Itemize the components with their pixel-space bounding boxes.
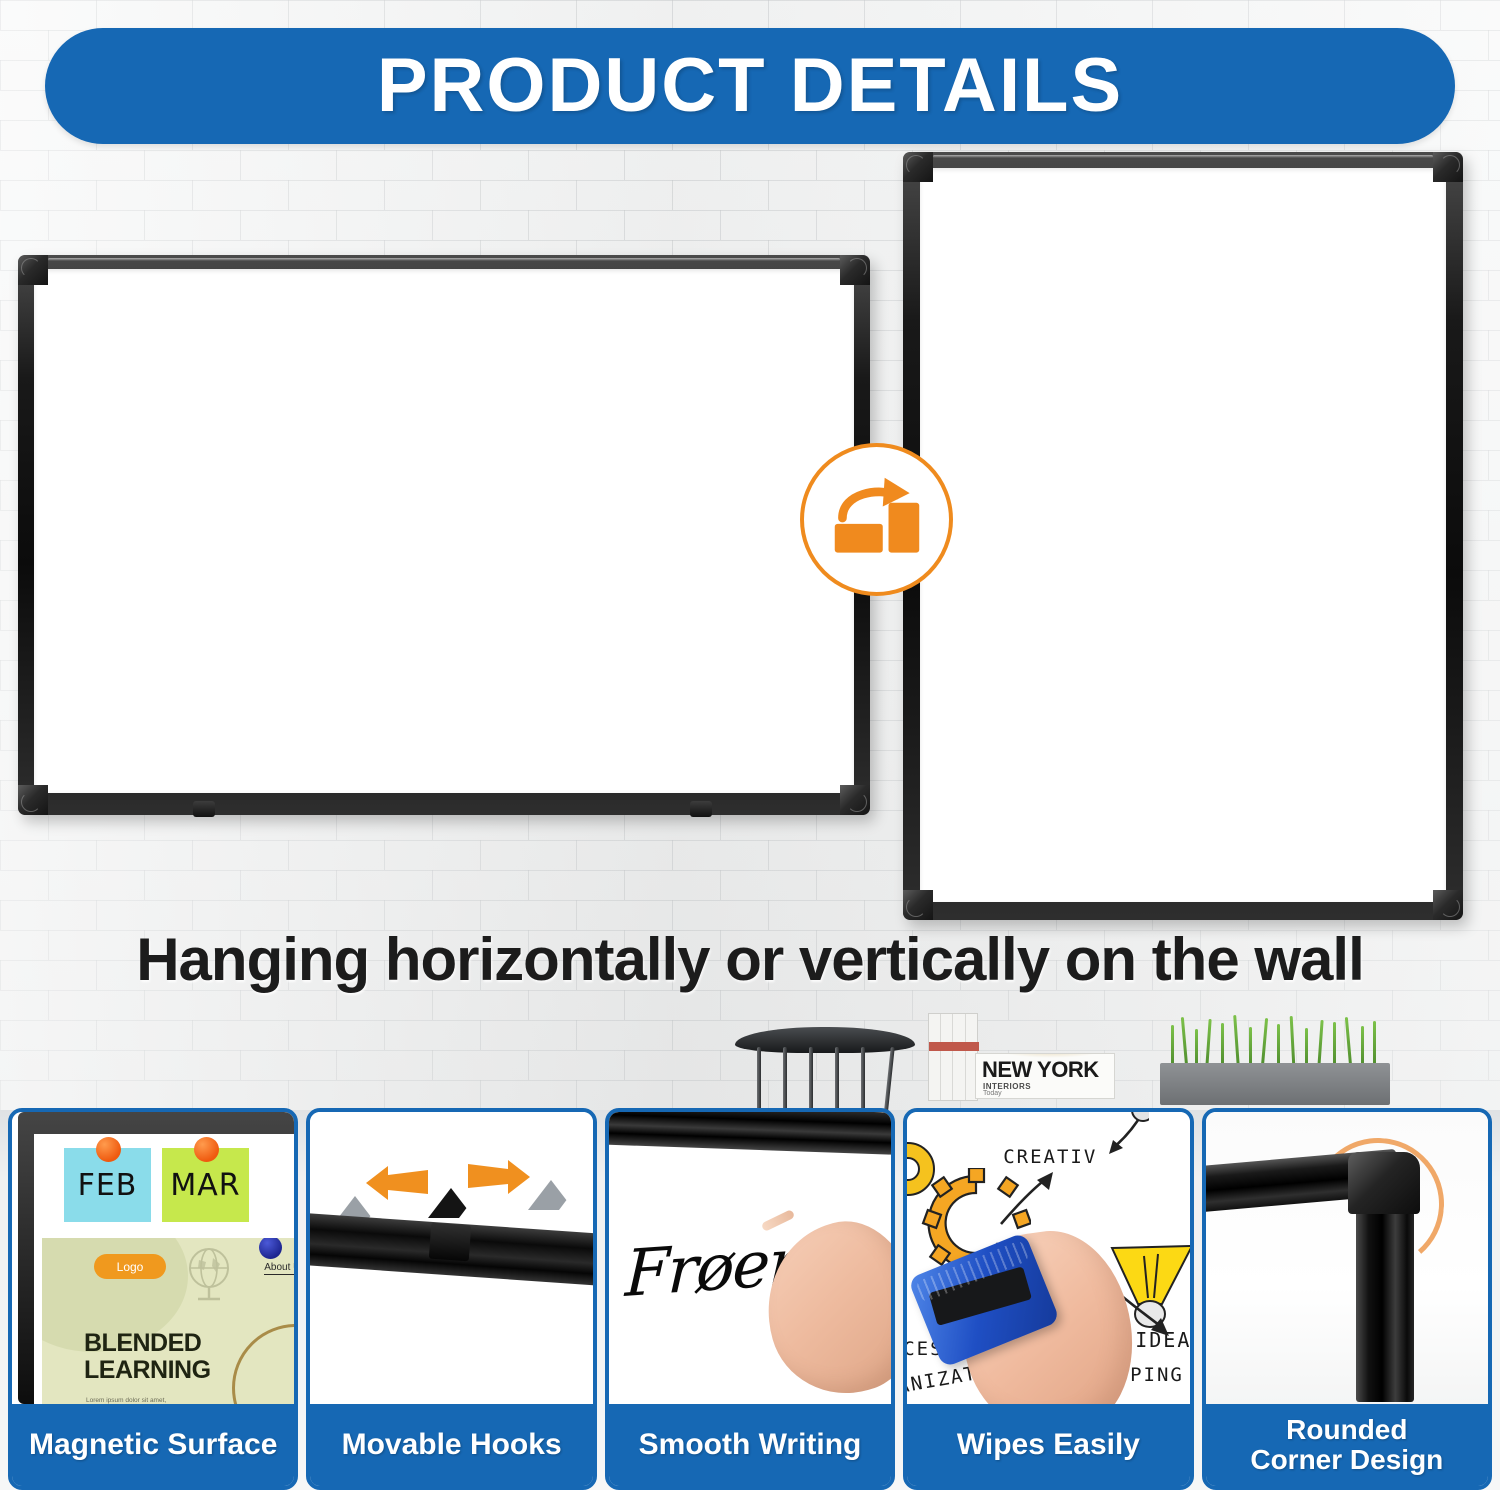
panel-label-wipes-easily: Wipes Easily <box>907 1404 1189 1486</box>
board-writing-surface <box>920 168 1446 902</box>
panel-label-smooth-writing: Smooth Writing <box>609 1404 891 1486</box>
board-writing-surface <box>34 269 854 793</box>
frame-highlight <box>48 258 840 261</box>
grass-blade <box>1361 1026 1364 1067</box>
panel-movable-hooks[interactable]: Movable Hooks <box>306 1108 596 1490</box>
feature-panel-row: FEB MAR Logo <box>0 1108 1500 1490</box>
grass-blade <box>1261 1018 1268 1067</box>
whiteboard-sketch: CREATIV IDEA LOPING CESS ANIZATI <box>907 1112 1189 1404</box>
rotate-orientation-glyph <box>829 472 925 568</box>
grass-blade <box>1317 1020 1323 1067</box>
hook-icon <box>528 1180 574 1210</box>
panel-smooth-writing[interactable]: Frøend Smooth Writing <box>605 1108 895 1490</box>
panel-label-line-2: Corner Design <box>1250 1444 1443 1475</box>
corner-piece-icon <box>1348 1152 1420 1214</box>
whiteboard-vertical <box>903 152 1463 920</box>
tray-clip <box>690 801 712 817</box>
corner-piece-icon <box>1433 152 1463 182</box>
whiteboard-rail <box>609 1112 891 1156</box>
grass-blade <box>1171 1025 1174 1067</box>
tray-clip <box>193 801 215 817</box>
hero-caption: Hanging horizontally or vertically on th… <box>0 925 1500 994</box>
arrow-right-icon <box>468 1158 530 1196</box>
grass-blade <box>1290 1016 1296 1067</box>
panel-rounded-corner-design[interactable]: Rounded Corner Design <box>1202 1108 1492 1490</box>
magnet-icon <box>259 1238 282 1259</box>
grass-blade <box>1373 1021 1376 1067</box>
grass-blade <box>1345 1017 1352 1067</box>
grass-blade <box>1221 1023 1224 1067</box>
board-writing-surface: FEB MAR Logo <box>34 1134 294 1404</box>
planter-box <box>1160 1063 1390 1105</box>
grass-blade <box>1305 1028 1308 1067</box>
corner-piece-icon <box>18 785 48 815</box>
poster-logo-badge: Logo <box>94 1254 166 1279</box>
globe-icon <box>186 1246 232 1306</box>
panel-label-rounded-corner-design: Rounded Corner Design <box>1206 1404 1488 1486</box>
new-york-book: NEW YORK INTERIORS Today <box>975 1053 1115 1099</box>
page-title: PRODUCT DETAILS <box>377 48 1123 124</box>
corner-piece-icon <box>1433 890 1463 920</box>
grass-blade <box>1333 1022 1336 1067</box>
corner-piece-icon <box>840 255 870 285</box>
panel-magnetic-surface[interactable]: FEB MAR Logo <box>8 1108 298 1490</box>
hook-base <box>429 1223 471 1262</box>
book-title: NEW YORK <box>982 1057 1099 1083</box>
panel-label-magnetic-surface: Magnetic Surface <box>12 1404 294 1486</box>
grass-blade <box>1233 1015 1240 1067</box>
corner-piece-icon <box>18 255 48 285</box>
frame-rail-vertical <box>1356 1196 1414 1402</box>
gear-icon <box>907 1134 943 1204</box>
poster-heading-line-1: BLENDED <box>84 1329 201 1357</box>
whiteboard-horizontal <box>18 255 870 815</box>
poster-about-link: About U <box>264 1262 294 1275</box>
room-scene: NEW YORK INTERIORS Today <box>0 1005 1500 1120</box>
poster-body-text: Lorem ipsum dolor sit amet, consectetuer… <box>86 1396 198 1404</box>
corner-piece-icon <box>903 152 933 182</box>
corner-piece-icon <box>840 785 870 815</box>
panel-label-movable-hooks: Movable Hooks <box>310 1404 592 1486</box>
magnetic-surface-art: FEB MAR Logo <box>12 1112 294 1404</box>
magnet-icon <box>194 1137 219 1162</box>
poster-heading-line-2: LEARNING <box>84 1356 211 1384</box>
wipes-easily-art: CREATIV IDEA LOPING CESS ANIZATI <box>907 1112 1189 1404</box>
grass-plant <box>1165 1015 1387 1067</box>
rounded-corner-art <box>1206 1112 1488 1404</box>
chair-backrest <box>735 1027 915 1053</box>
panel-wipes-easily[interactable]: CREATIV IDEA LOPING CESS ANIZATI <box>903 1108 1193 1490</box>
arrow-sketch-icon <box>1073 1112 1149 1186</box>
smooth-writing-art: Frøend <box>609 1112 891 1404</box>
poster-decor-arc <box>232 1324 294 1404</box>
book-subtitle-secondary: Today <box>983 1090 1002 1097</box>
grass-blade <box>1277 1024 1280 1067</box>
frame-highlight <box>933 155 1433 158</box>
chair <box>735 1027 915 1119</box>
corner-piece-icon <box>903 890 933 920</box>
rotate-orientation-icon <box>800 443 953 596</box>
arrow-sketch-icon <box>999 1170 1059 1230</box>
movable-hooks-art <box>310 1112 592 1404</box>
book-stack <box>928 1013 978 1101</box>
grass-blade <box>1205 1019 1211 1067</box>
poster-heading: BLENDEDLEARNING <box>84 1330 211 1383</box>
grass-blade <box>1249 1027 1252 1067</box>
product-detail-image: PRODUCT DETAILS Hanging horizontally or … <box>0 0 1500 1490</box>
grass-blade <box>1181 1017 1188 1067</box>
panel-label-line-1: Rounded <box>1286 1414 1407 1445</box>
poster: Logo About U BLENDEDLEARNING Lorem <box>42 1238 294 1404</box>
brick-row <box>0 0 1500 30</box>
book-band <box>929 1042 979 1051</box>
arrow-left-icon <box>366 1164 428 1202</box>
magnet-icon <box>96 1137 121 1162</box>
grass-blade <box>1195 1029 1198 1067</box>
product-details-banner: PRODUCT DETAILS <box>45 28 1455 144</box>
